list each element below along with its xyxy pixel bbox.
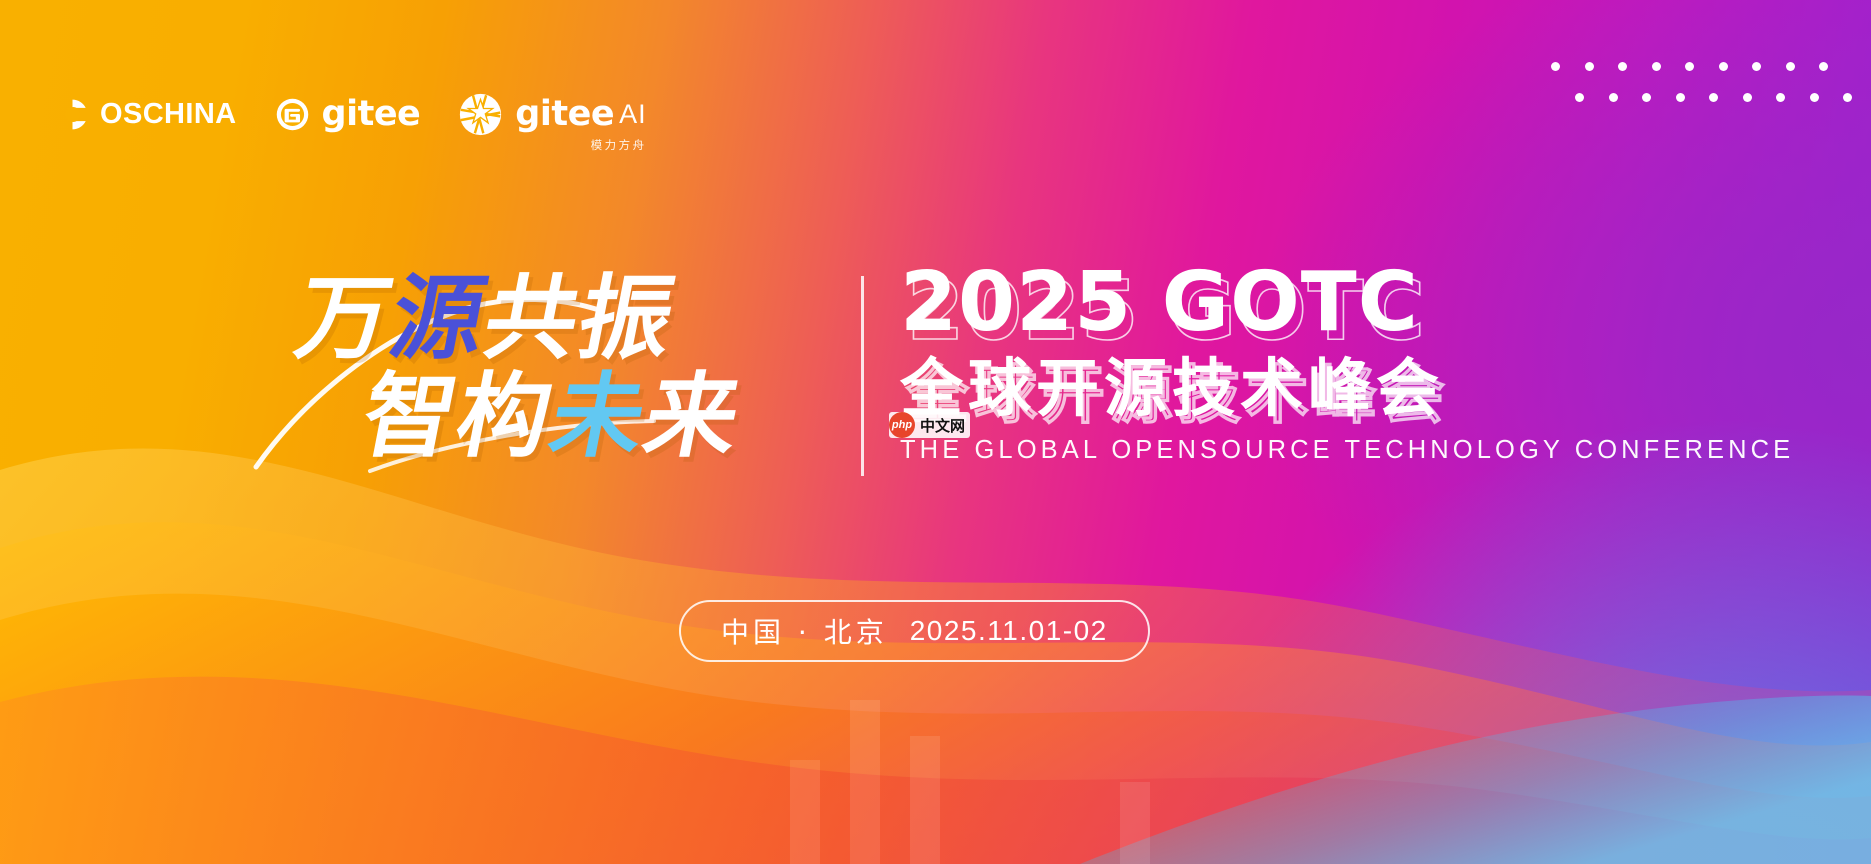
decorative-dot-grid bbox=[1551, 62, 1852, 102]
dot bbox=[1642, 93, 1651, 102]
dot bbox=[1652, 62, 1661, 71]
dot bbox=[1585, 62, 1594, 71]
watermark-text: 中文网 bbox=[920, 415, 965, 436]
dot bbox=[1819, 62, 1828, 71]
php-watermark: php 中文网 bbox=[889, 412, 970, 438]
gitee-ai-wordmark: gitee bbox=[515, 97, 614, 132]
oschina-c-icon bbox=[56, 98, 89, 131]
dot bbox=[1685, 62, 1694, 71]
gitee-g-icon bbox=[275, 97, 310, 132]
dot bbox=[1676, 93, 1685, 102]
gitee-ai-globe-icon bbox=[458, 92, 503, 137]
dot bbox=[1575, 93, 1584, 102]
dot-row-bottom bbox=[1575, 93, 1852, 102]
event-dates: 2025.11.01-02 bbox=[910, 615, 1108, 647]
vertical-divider bbox=[861, 276, 864, 476]
event-title-solid: 2025 GOTC bbox=[900, 255, 1419, 350]
event-location: 中国 · 北京 bbox=[721, 611, 888, 651]
event-subtitle-solid: 全球开源技术峰会 bbox=[900, 352, 1444, 425]
logo-gitee-ai[interactable]: gitee AI 模力方舟 bbox=[458, 92, 646, 137]
gotc-2025-banner: OSCHINA gitee gitee AI bbox=[0, 0, 1871, 864]
main-headline: 万源共振 智构未来 bbox=[298, 272, 740, 464]
dot bbox=[1843, 93, 1852, 102]
dot-row-top bbox=[1551, 62, 1852, 71]
event-date-location-pill[interactable]: 中国 · 北京 2025.11.01-02 bbox=[679, 600, 1150, 662]
event-title: 2025 GOTC 2025 GOTC bbox=[900, 262, 1794, 344]
php-badge-icon: php bbox=[889, 412, 915, 438]
gitee-wordmark: gitee bbox=[322, 97, 421, 132]
headline-line2-part2: 来 bbox=[636, 363, 751, 470]
dot bbox=[1752, 62, 1761, 71]
dot bbox=[1743, 93, 1752, 102]
event-tagline: THE GLOBAL OPENSOURCE TECHNOLOGY CONFERE… bbox=[900, 436, 1794, 465]
gitee-ai-suffix: AI bbox=[619, 99, 647, 130]
headline-line2-part1: 智构 bbox=[354, 363, 563, 470]
logo-gitee[interactable]: gitee bbox=[275, 97, 421, 132]
headline-line1-part2: 共振 bbox=[476, 265, 685, 372]
event-subtitle: 全球开源技术峰会 全球开源技术峰会 bbox=[900, 356, 1794, 422]
dot bbox=[1810, 93, 1819, 102]
dot bbox=[1618, 62, 1627, 71]
gitee-ai-subtext: 模力方舟 bbox=[591, 137, 647, 153]
headline-line-2: 智构未来 bbox=[355, 370, 749, 464]
dot bbox=[1709, 93, 1718, 102]
dot bbox=[1719, 62, 1728, 71]
dot bbox=[1786, 62, 1795, 71]
oschina-wordmark: OSCHINA bbox=[100, 98, 237, 131]
event-title-block: 2025 GOTC 2025 GOTC 全球开源技术峰会 全球开源技术峰会 TH… bbox=[900, 262, 1794, 465]
headline-line-1: 万源共振 bbox=[289, 272, 749, 366]
dot bbox=[1609, 93, 1618, 102]
logo-oschina[interactable]: OSCHINA bbox=[56, 98, 237, 131]
dot bbox=[1776, 93, 1785, 102]
dot bbox=[1551, 62, 1560, 71]
partner-logo-bar: OSCHINA gitee gitee AI bbox=[56, 92, 647, 137]
